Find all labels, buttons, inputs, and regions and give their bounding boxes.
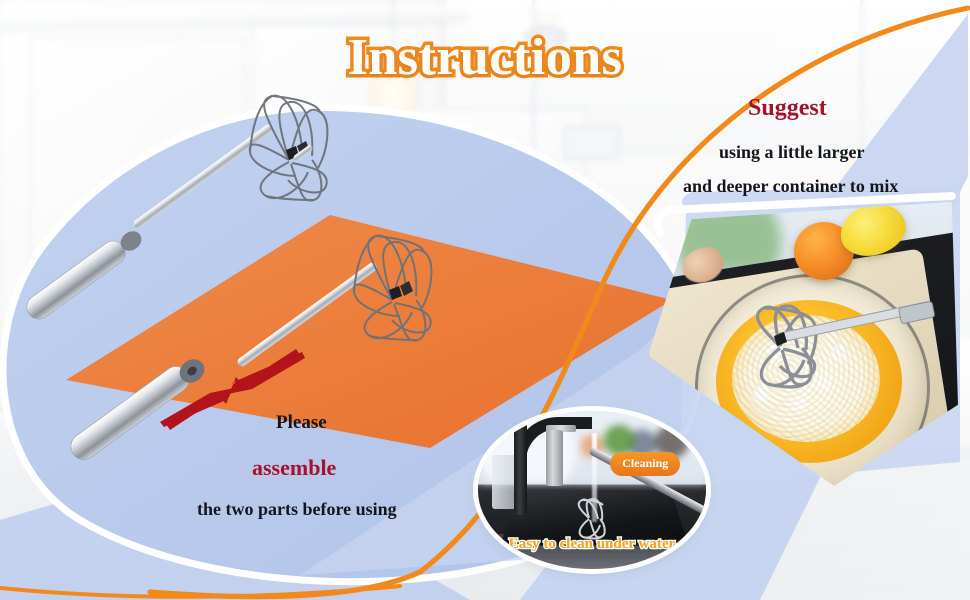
cleaning-photo: Cleaning Easy to clean under water Easy … (478, 411, 706, 569)
disassembled-whisk-illustration (66, 236, 432, 465)
assemble-text-line-1: Please (276, 412, 327, 434)
assembled-whisk-illustration (22, 96, 327, 324)
suggest-text-line-2: and deeper container to mix (683, 176, 898, 197)
arrow-right-icon (160, 388, 234, 430)
soap-dispenser (546, 430, 563, 486)
suggest-heading: Suggest (748, 95, 827, 122)
suggest-text-line-1: using a little larger (719, 142, 864, 163)
arrow-left-icon (228, 349, 305, 394)
whisk-icon (569, 496, 613, 542)
assemble-text-line-3: the two parts before using (197, 499, 397, 520)
instructions-infographic: Instructions Instructions Please assembl… (0, 0, 970, 600)
ceiling-fan-icon (524, 24, 568, 50)
page-title-stroke: Instructions (0, 28, 970, 87)
page-title: Instructions (0, 28, 970, 87)
assemble-text-highlight: assemble (252, 455, 336, 481)
cleaning-badge: Cleaning (610, 452, 680, 476)
